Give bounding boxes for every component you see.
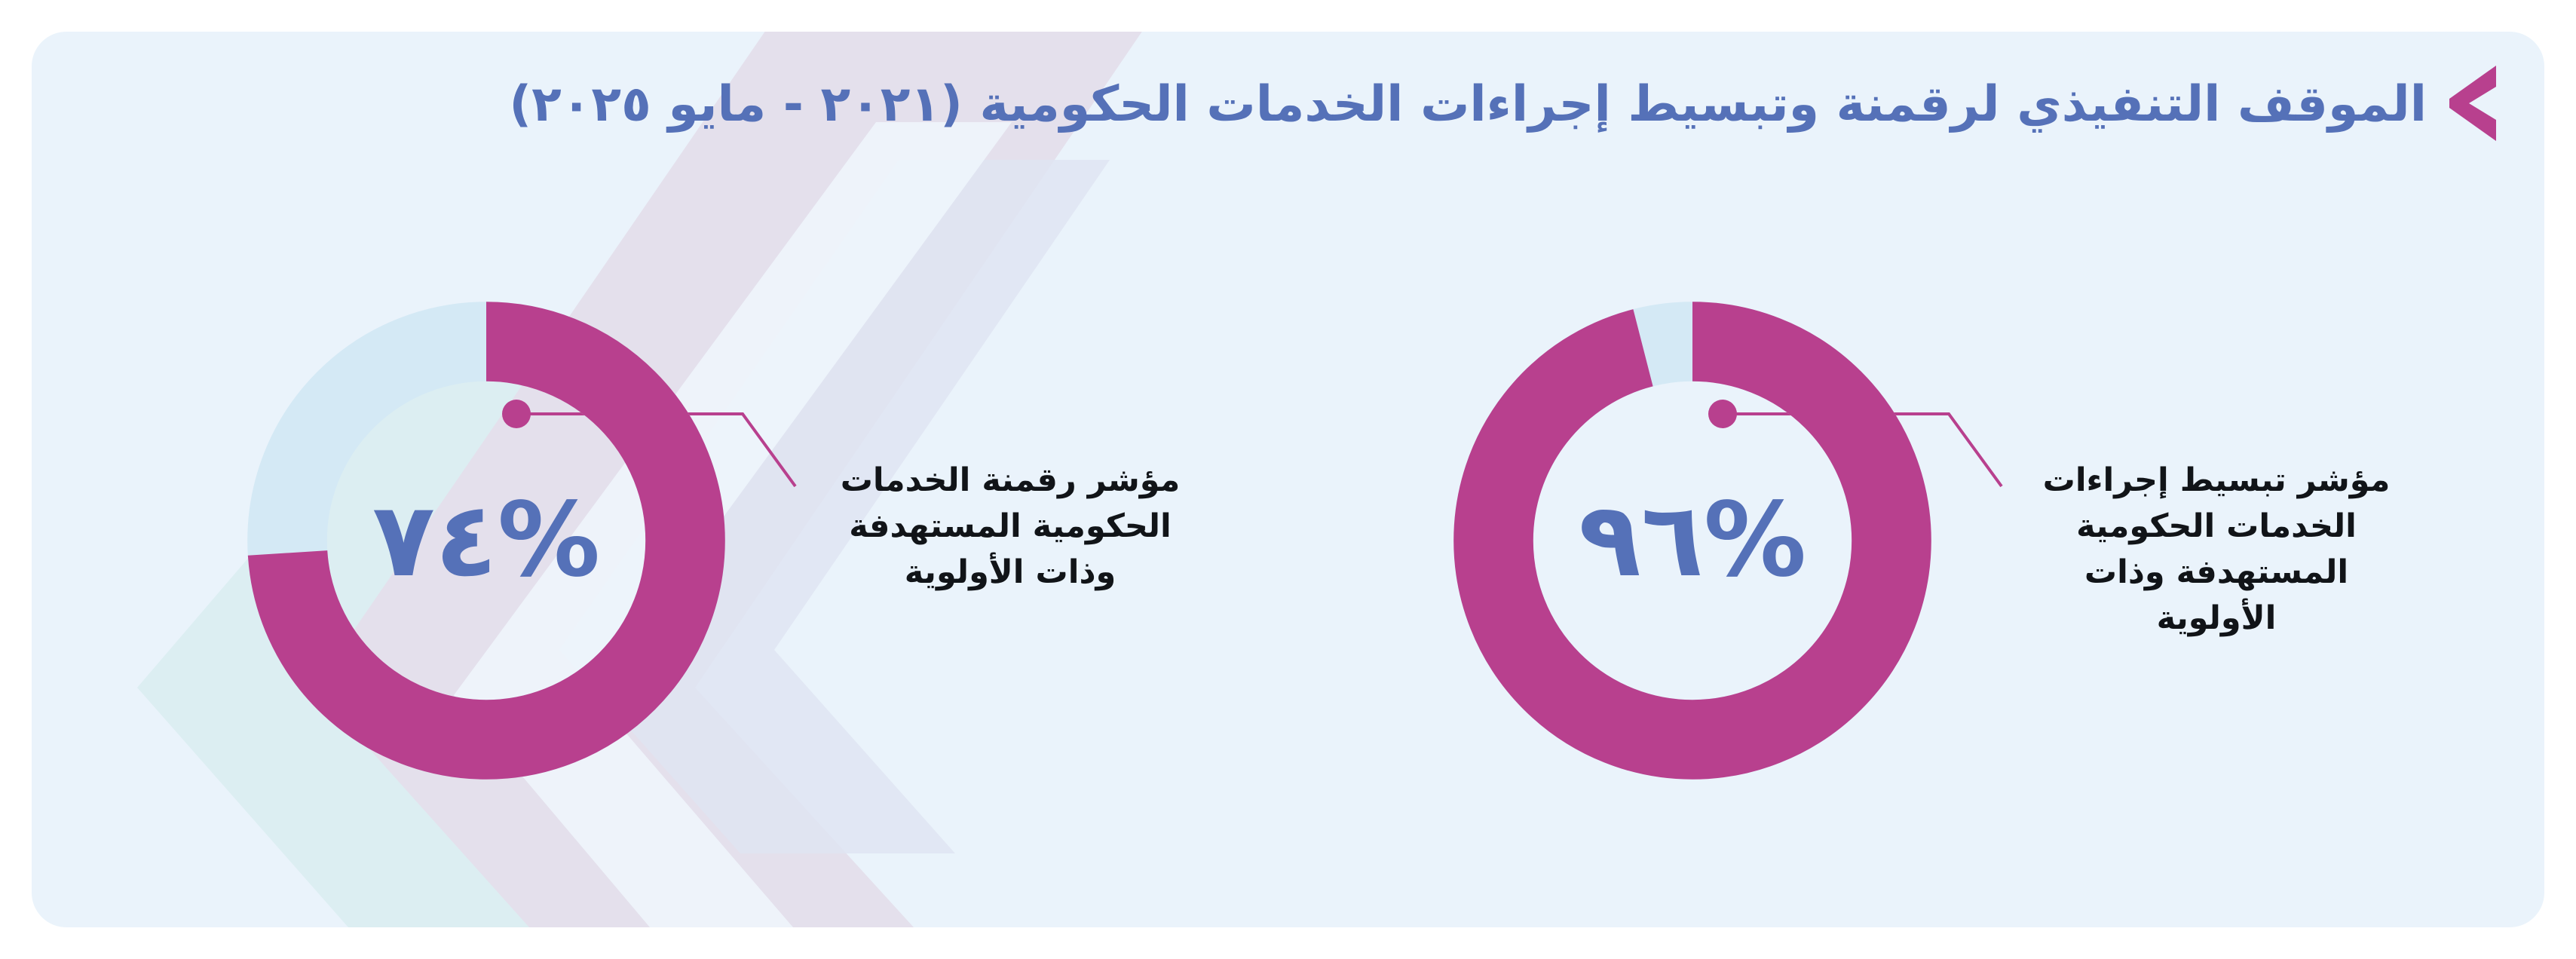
infographic-card: الموقف التنفيذي لرقمنة وتبسيط إجراءات ال… bbox=[32, 32, 2544, 927]
donut-chart-digitization: %٧٤ bbox=[237, 292, 735, 789]
page-title: الموقف التنفيذي لرقمنة وتبسيط إجراءات ال… bbox=[509, 80, 2427, 129]
metric-block-simplification: مؤشر تبسيط إجراءات الخدمات الحكومية المس… bbox=[1323, 190, 2499, 891]
chevron-left-icon[interactable] bbox=[2446, 64, 2499, 142]
metric-block-digitization: مؤشر رقمنة الخدمات الحكومية المستهدفة وذ… bbox=[117, 190, 1293, 891]
donut-chart-simplification: %٩٦ bbox=[1444, 292, 1941, 789]
donut-value-simplification: %٩٦ bbox=[1444, 292, 1941, 789]
donut-value-digitization: %٧٤ bbox=[237, 292, 735, 789]
metric-label-digitization: مؤشر رقمنة الخدمات الحكومية المستهدفة وذ… bbox=[833, 458, 1187, 596]
metric-label-simplification: مؤشر تبسيط إجراءات الخدمات الحكومية المس… bbox=[2039, 458, 2394, 642]
header: الموقف التنفيذي لرقمنة وتبسيط إجراءات ال… bbox=[32, 32, 2544, 167]
